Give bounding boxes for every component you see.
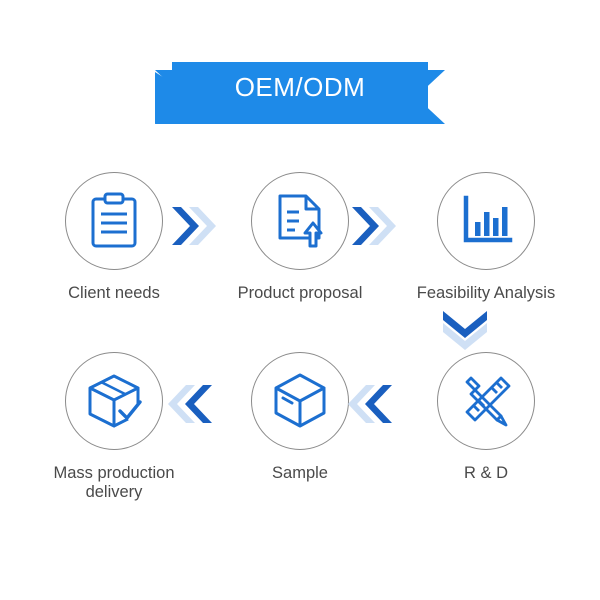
connector-5 <box>348 381 396 427</box>
clipboard-icon <box>87 192 141 250</box>
process-row-top: Client needs Product proposal <box>0 172 600 303</box>
box-check-icon <box>84 372 144 430</box>
double-chevron-down-icon <box>440 308 490 350</box>
double-chevron-left-icon <box>348 381 396 427</box>
step-label: Feasibility Analysis <box>417 284 555 303</box>
connector-4 <box>168 381 216 427</box>
step-label: Mass production delivery <box>53 464 174 503</box>
document-upload-icon <box>272 192 328 250</box>
step-icon-circle[interactable] <box>251 352 349 450</box>
process-row-bottom: Mass production delivery Sample <box>0 352 600 503</box>
oem-odm-process-infographic: OEM/ODM Client needs <box>0 0 600 600</box>
step-label: Client needs <box>68 284 160 303</box>
step-icon-circle[interactable] <box>437 352 535 450</box>
step-icon-circle[interactable] <box>437 172 535 270</box>
double-chevron-right-icon <box>348 203 396 249</box>
bar-chart-icon <box>458 195 514 247</box>
step-mass-production-delivery[interactable]: Mass production delivery <box>21 352 207 503</box>
connector-1 <box>168 203 216 249</box>
step-icon-circle[interactable] <box>65 172 163 270</box>
banner-title: OEM/ODM <box>0 62 600 112</box>
step-label: Product proposal <box>238 284 363 303</box>
connector-3 <box>440 308 490 350</box>
cube-box-icon <box>272 372 328 430</box>
step-icon-circle[interactable] <box>251 172 349 270</box>
connector-2 <box>348 203 396 249</box>
step-icon-circle[interactable] <box>65 352 163 450</box>
step-r-and-d[interactable]: R & D <box>393 352 579 483</box>
step-feasibility-analysis[interactable]: Feasibility Analysis <box>393 172 579 303</box>
step-label: Sample <box>272 464 328 483</box>
double-chevron-left-icon <box>168 381 216 427</box>
pencil-ruler-icon <box>457 372 515 430</box>
double-chevron-right-icon <box>168 203 216 249</box>
step-label: R & D <box>464 464 508 483</box>
